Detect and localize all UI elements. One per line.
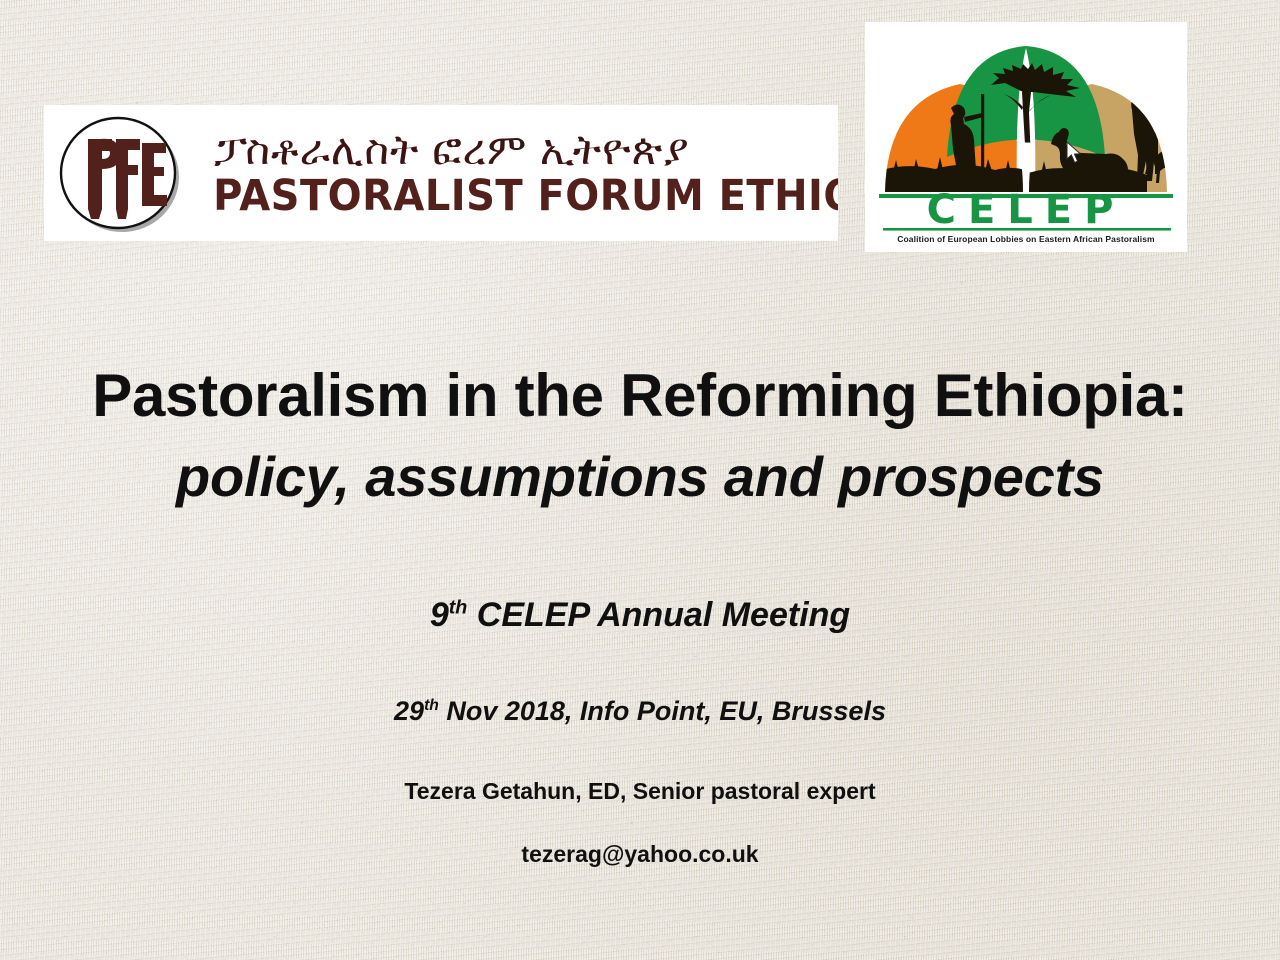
celep-tagline: Coalition of European Lobbies on Eastern… — [865, 234, 1187, 244]
meeting-name-text: CELEP Annual Meeting — [467, 596, 850, 634]
meeting-ordinal-suffix: th — [449, 597, 468, 619]
date-day-number: 29 — [394, 696, 424, 726]
date-day-suffix: th — [424, 697, 439, 714]
author-name-and-role: Tezera Getahun, ED, Senior pastoral expe… — [0, 778, 1280, 805]
pfe-latin-name: PASTORALIST FORUM ETHIOPIA — [202, 175, 793, 218]
pastoralist-forum-ethiopia-logo: ፓስቶራሊስት ፎረም ኢትዮጵያ PASTORALIST FORUM ETHI… — [44, 105, 838, 241]
meeting-name: 9th CELEP Annual Meeting — [0, 596, 1280, 635]
slide-title-line-2: policy, assumptions and prospects — [0, 448, 1280, 507]
celep-wordmark-text: CELEP — [927, 187, 1126, 233]
author-email: tezerag@yahoo.co.uk — [0, 841, 1280, 868]
slide-title-line-1: Pastoralism in the Reforming Ethiopia: — [0, 364, 1280, 427]
meeting-ordinal-number: 9 — [430, 596, 449, 634]
presentation-slide: ፓስቶራሊስት ፎረም ኢትዮጵያ PASTORALIST FORUM ETHI… — [0, 0, 1280, 960]
date-and-venue: 29th Nov 2018, Info Point, EU, Brussels — [0, 696, 1280, 727]
pfe-amharic-name: ፓስቶራሊስት ፎረም ኢትዮጵያ — [202, 128, 838, 172]
pfe-emblem-icon — [44, 107, 196, 239]
celep-logo-artwork: CELEP — [865, 22, 1187, 252]
celep-logo: CELEP Coalition of European Lobbies on E… — [865, 22, 1187, 252]
date-venue-text: Nov 2018, Info Point, EU, Brussels — [439, 696, 886, 726]
pfe-wordmark: ፓስቶራሊስት ፎረም ኢትዮጵያ PASTORALIST FORUM ETHI… — [196, 128, 838, 217]
